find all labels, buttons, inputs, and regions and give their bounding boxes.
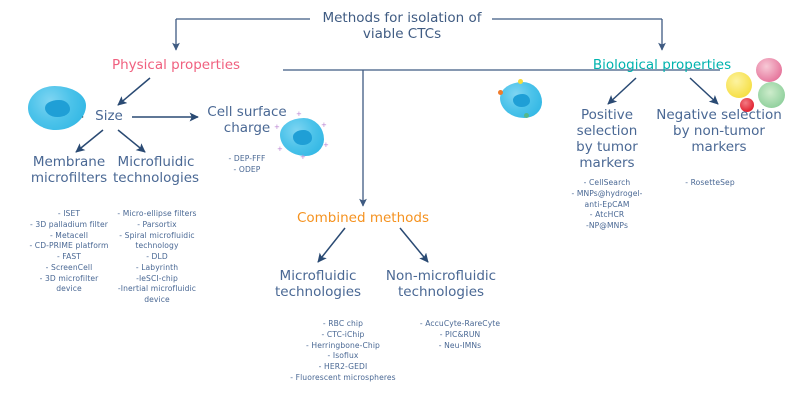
list-microfluidic-technologies-combined: - RBC chip - CTC-iChip - Herringbone-Chi… — [272, 319, 414, 384]
node-microfluidic-technologies-combined: Microfluidic technologies — [265, 269, 371, 301]
list-negative-selection: - RosetteSep — [645, 178, 775, 189]
charge-plus-icon: + — [300, 154, 306, 161]
list-item: anti-EpCAM — [548, 200, 666, 211]
list-non-microfluidic-technologies: - AccuCyte-RareCyte - PIC&RUN - Neu-IMNs — [405, 319, 515, 351]
list-item: - Micro-ellipse filters — [100, 209, 214, 220]
negative-selection-line1: Negative selection — [645, 108, 793, 124]
root-title-line1: Methods for isolation of — [311, 11, 493, 27]
list-microfluidic-technologies-physical: - Micro-ellipse filters - Parsortix - Sp… — [100, 209, 214, 306]
ctc-cell-tumor-markers — [500, 82, 542, 118]
cell-nucleus — [293, 130, 311, 144]
marker-yellow-icon — [518, 79, 523, 84]
charge-plus-icon: + — [321, 122, 327, 129]
list-item: - HER2-GEDI — [272, 362, 414, 373]
list-item: - Fluorescent microspheres — [272, 373, 414, 384]
list-item: -NP@MNPs — [548, 221, 666, 232]
microfluidic-technologies-line1: Microfluidic — [265, 269, 371, 285]
node-non-microfluidic-technologies: Non-microfluidic technologies — [379, 269, 503, 301]
cell-nucleus — [45, 100, 69, 117]
microfluidic-technologies-line1: Microfluidic — [104, 155, 208, 171]
negative-selection-line2: by non-tumor — [645, 124, 793, 140]
marker-orange-icon — [498, 90, 503, 95]
list-item: -Inertial microfluidic — [100, 284, 214, 295]
ctc-cell-size-measure — [28, 86, 86, 130]
list-item: -IeSCI-chip — [100, 274, 214, 285]
non-microfluidic-technologies-line2: technologies — [379, 285, 503, 301]
physical-properties-label: Physical properties — [112, 57, 240, 73]
combined-methods-label: Combined methods — [297, 210, 429, 226]
size-label: Size — [95, 108, 123, 124]
root-node: Methods for isolation of viable CTCs — [311, 11, 493, 43]
node-size: Size — [86, 109, 132, 125]
negative-selection-line3: markers — [645, 140, 793, 156]
branch-combined-methods: Combined methods — [293, 211, 433, 227]
list-item: - PIC&RUN — [405, 330, 515, 341]
list-item: - MNPs@hydrogel- — [548, 189, 666, 200]
list-item: technology — [100, 241, 214, 252]
cell-nucleus — [513, 94, 531, 108]
charge-plus-icon: + — [274, 124, 280, 131]
charge-plus-icon: + — [296, 111, 302, 118]
list-item: - Labyrinth — [100, 263, 214, 274]
node-microfluidic-technologies-physical: Microfluidic technologies — [104, 155, 208, 187]
biological-properties-label: Biological properties — [593, 57, 731, 73]
node-negative-selection: Negative selection by non-tumor markers — [645, 108, 793, 156]
blood-cell-pink-icon — [756, 58, 782, 82]
charge-plus-icon: + — [323, 142, 329, 149]
list-item: - CTC-iChip — [272, 330, 414, 341]
list-item: - RBC chip — [272, 319, 414, 330]
list-item: - Spiral microfluidic — [100, 231, 214, 242]
marker-green-icon — [524, 113, 529, 118]
list-item: - AtcHCR — [548, 210, 666, 221]
list-item: device — [100, 295, 214, 306]
branch-biological-properties: Biological properties — [578, 58, 746, 74]
microfluidic-technologies-line2: technologies — [265, 285, 371, 301]
list-item: - Herringbone-Chip — [272, 341, 414, 352]
list-item: - DLD — [100, 252, 214, 263]
ctc-cell-surface-charge: + + + + + + — [280, 118, 324, 156]
microfluidic-technologies-line2: technologies — [104, 171, 208, 187]
list-item: - DEP-FFF — [205, 154, 289, 165]
list-item: - Parsortix — [100, 220, 214, 231]
branch-physical-properties: Physical properties — [96, 58, 256, 74]
list-item: - ODEP — [205, 165, 289, 176]
list-item: - Isoflux — [272, 351, 414, 362]
root-title-line2: viable CTCs — [311, 27, 493, 43]
list-cell-surface-charge: - DEP-FFF - ODEP — [205, 154, 289, 176]
list-item: - AccuCyte-RareCyte — [405, 319, 515, 330]
list-item: - Neu-IMNs — [405, 341, 515, 352]
non-tumor-cell-cluster — [726, 58, 794, 114]
non-microfluidic-technologies-line1: Non-microfluidic — [379, 269, 503, 285]
blood-cell-yellow-icon — [726, 72, 752, 98]
charge-plus-icon: + — [277, 146, 283, 153]
list-item: - RosetteSep — [645, 178, 775, 189]
blood-cell-green-icon — [758, 82, 785, 108]
diagram-canvas: Methods for isolation of viable CTCs Phy… — [0, 0, 797, 404]
